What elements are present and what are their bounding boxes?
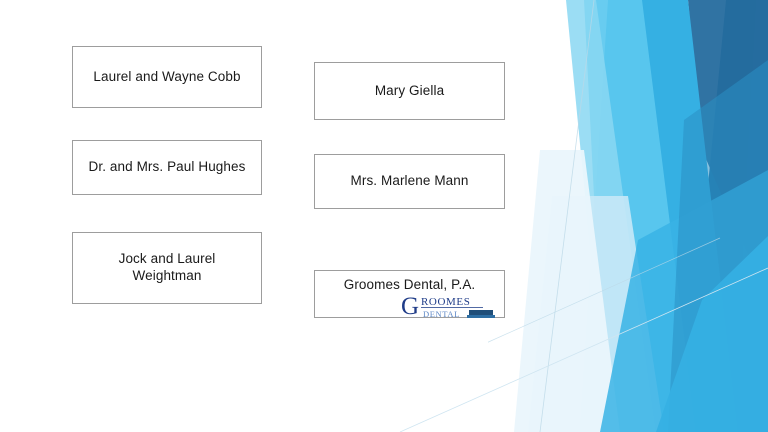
name-box-label: Laurel and Wayne Cobb bbox=[93, 69, 240, 86]
groomes-dental-logo-icon: G ROOMES DENTAL bbox=[401, 293, 497, 319]
logo-word-roomes: ROOMES bbox=[421, 296, 470, 308]
name-box-label: Jock and Laurel Weightman bbox=[119, 251, 216, 285]
logo-initial-g: G bbox=[401, 293, 419, 319]
name-box-groomes-dental[interactable]: Groomes Dental, P.A. G ROOMES DENTAL bbox=[314, 270, 505, 318]
slide-canvas: Laurel and Wayne Cobb Dr. and Mrs. Paul … bbox=[0, 0, 768, 432]
name-box-label: Groomes Dental, P.A. bbox=[315, 271, 504, 294]
name-box-jock-and-laurel-weightman[interactable]: Jock and Laurel Weightman bbox=[72, 232, 262, 304]
name-box-label: Mrs. Marlene Mann bbox=[351, 173, 469, 190]
name-box-mrs-marlene-mann[interactable]: Mrs. Marlene Mann bbox=[314, 154, 505, 209]
logo-word-dental: DENTAL bbox=[423, 309, 460, 319]
name-box-laurel-and-wayne-cobb[interactable]: Laurel and Wayne Cobb bbox=[72, 46, 262, 108]
name-box-mary-giella[interactable]: Mary Giella bbox=[314, 62, 505, 120]
name-box-label: Mary Giella bbox=[375, 83, 444, 100]
facet-angles-graphic bbox=[488, 0, 768, 432]
name-box-dr-and-mrs-paul-hughes[interactable]: Dr. and Mrs. Paul Hughes bbox=[72, 140, 262, 195]
name-box-label: Dr. and Mrs. Paul Hughes bbox=[89, 159, 246, 176]
